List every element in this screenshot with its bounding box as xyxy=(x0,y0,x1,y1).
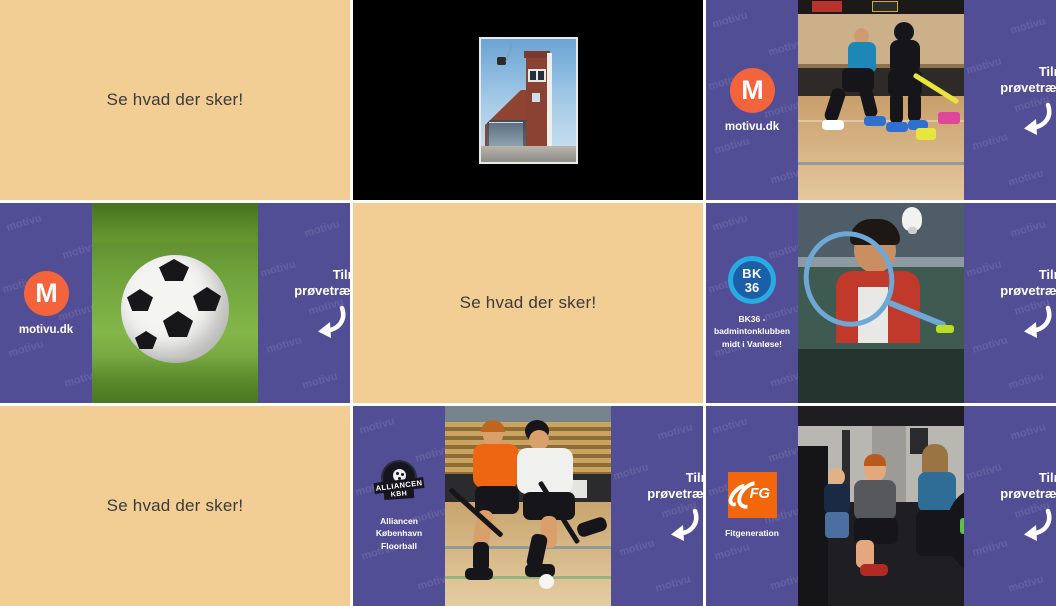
ball-panel xyxy=(127,289,153,311)
gym-ceiling xyxy=(798,406,964,426)
church-photo xyxy=(479,37,578,164)
cta-line-2: prøvetræning xyxy=(294,283,350,299)
man-tshirt xyxy=(854,480,896,520)
rowing-machine xyxy=(798,446,828,606)
player-head xyxy=(529,430,549,450)
ad-card-grid: Se hvad der sker! motivu motivu motivu m… xyxy=(0,0,1056,606)
player-leg xyxy=(890,92,903,124)
cta-line-2: prøvetræning xyxy=(647,486,703,502)
player-shoe xyxy=(822,120,844,130)
cta-panel[interactable]: Tilmeld prøvetræning xyxy=(964,203,1056,403)
bk36-logo-text-bottom: 36 xyxy=(745,281,759,294)
cta-line-1: Tilmeld xyxy=(647,470,703,486)
placeholder-card[interactable]: Se hvad der sker! xyxy=(0,0,350,200)
badminton-court-scene xyxy=(798,203,964,403)
sponsor-panel: M motivu.dk xyxy=(0,203,92,403)
card-photo xyxy=(798,203,964,403)
grass-background xyxy=(92,203,258,243)
placeholder-text: Se hvad der sker! xyxy=(107,90,244,110)
wall-sign-dark xyxy=(872,1,898,12)
court-floor xyxy=(798,349,964,403)
club-name-line-3: midt i Vanløse! xyxy=(714,338,790,350)
man-hair xyxy=(864,454,886,466)
player-jersey xyxy=(890,40,920,74)
alliancen-logo-text-bottom: KBH xyxy=(384,489,415,500)
player-shoe xyxy=(465,568,493,580)
ground xyxy=(481,146,576,162)
cta-panel[interactable]: Tilmeld prøvetræning xyxy=(964,0,1056,200)
child-jeans xyxy=(825,512,849,538)
player-head xyxy=(894,22,914,42)
club-name-line-2: badmintonklubben xyxy=(714,325,790,337)
curved-arrow-down-left-icon xyxy=(306,305,348,339)
club-name: BK36 - badmintonklubben midt i Vanløse! xyxy=(714,313,790,350)
sponsor-panel: BK 36 BK36 - badmintonklubben midt i Van… xyxy=(706,203,798,403)
cta-line-1: Tilmeld xyxy=(1000,470,1056,486)
motivu-logo-letter: M xyxy=(35,280,57,307)
ball-panel xyxy=(159,259,189,281)
cta-label: Tilmeld prøvetræning xyxy=(647,470,703,503)
cta-panel[interactable]: Tilmeld prøvetræning xyxy=(964,406,1056,606)
placeholder-card[interactable]: Se hvad der sker! xyxy=(0,406,350,606)
club-name-line-3: Floorball xyxy=(376,540,422,552)
club-name-line-1: BK36 - xyxy=(714,313,790,325)
man-shoe xyxy=(860,564,888,576)
cta-line-2: prøvetræning xyxy=(1000,486,1056,502)
promo-card-fitgeneration[interactable]: motivu motivu motivu motivu motivu motiv… xyxy=(706,406,1056,606)
promo-card-bk36[interactable]: motivu motivu motivu motivu motivu motiv… xyxy=(706,203,1056,403)
club-name: Alliancen København Floorball xyxy=(376,515,422,552)
cta-line-1: Tilmeld xyxy=(294,267,350,283)
club-name: Fitgeneration xyxy=(725,527,779,539)
floorball-ball xyxy=(539,574,554,589)
floorball-hall-scene xyxy=(798,0,964,200)
promo-card-alliancen[interactable]: motivu motivu motivu motivu motivu motiv… xyxy=(353,406,703,606)
bk36-logo-inner: BK 36 xyxy=(733,261,771,299)
stick-blade-pink xyxy=(938,112,960,124)
cta-label: Tilmeld prøvetræning xyxy=(1000,470,1056,503)
bk36-logo: BK 36 xyxy=(728,256,776,304)
promo-card-motivu-floorball[interactable]: motivu motivu motivu motivu motivu motiv… xyxy=(706,0,1056,200)
cta-panel[interactable]: Tilmeld prøvetræning xyxy=(611,406,703,606)
sponsor-name: motivu.dk xyxy=(19,324,73,336)
photo-card-church[interactable] xyxy=(353,0,703,200)
club-name-line-2: København xyxy=(376,527,422,539)
fg-logo-text: FG xyxy=(750,485,770,502)
cta-label: Tilmeld prøvetræning xyxy=(1000,267,1056,300)
alliancen-logo: ALLIANCEN KBH xyxy=(374,460,424,506)
card-photo xyxy=(92,203,258,403)
child-shirt xyxy=(824,484,850,514)
curved-arrow-down-left-icon xyxy=(1012,508,1054,542)
glass-entrance xyxy=(489,122,523,147)
placeholder-text: Se hvad der sker! xyxy=(107,496,244,516)
sponsor-name: motivu.dk xyxy=(725,121,779,133)
racket-grip xyxy=(936,325,954,333)
ball-panel xyxy=(135,331,157,349)
tower-window xyxy=(532,93,540,102)
card-photo xyxy=(798,406,964,606)
player-shoe xyxy=(864,116,886,126)
cta-line-2: prøvetræning xyxy=(1000,283,1056,299)
court-line-blue xyxy=(798,162,964,165)
promo-card-motivu-soccer[interactable]: motivu motivu motivu motivu motivu motiv… xyxy=(0,203,350,403)
curved-arrow-down-left-icon xyxy=(1012,305,1054,339)
cta-line-2: prøvetræning xyxy=(1000,80,1056,96)
sponsor-panel: M motivu.dk xyxy=(706,0,798,200)
player-leg xyxy=(908,92,921,122)
tower-stripe xyxy=(547,53,552,148)
cta-label: Tilmeld prøvetræning xyxy=(294,267,350,300)
grass-field-scene xyxy=(92,203,258,403)
street-lamp xyxy=(497,57,506,65)
ball-panel xyxy=(193,287,221,311)
placeholder-text: Se hvad der sker! xyxy=(460,293,597,313)
motivu-logo: M xyxy=(730,68,775,113)
curved-arrow-down-left-icon xyxy=(659,508,701,542)
ball-panel xyxy=(163,311,193,337)
card-photo xyxy=(798,0,964,200)
hall-ceiling xyxy=(445,406,611,422)
curved-arrow-down-left-icon xyxy=(1012,102,1054,136)
cta-line-1: Tilmeld xyxy=(1000,267,1056,283)
grass-foreground xyxy=(92,357,258,403)
motivu-logo-letter: M xyxy=(741,77,763,104)
player-jersey-orange xyxy=(473,444,519,488)
stick-blade xyxy=(916,128,936,140)
court-line-blue xyxy=(445,546,611,549)
floorball-match-scene xyxy=(445,406,611,606)
fitgeneration-logo: FG xyxy=(728,472,777,518)
cta-line-1: Tilmeld xyxy=(1000,64,1056,80)
club-name-line-1: Alliancen xyxy=(376,515,422,527)
player-shoe xyxy=(886,122,908,132)
placeholder-card[interactable]: Se hvad der sker! xyxy=(353,203,703,403)
card-photo xyxy=(445,406,611,606)
cta-panel[interactable]: Tilmeld prøvetræning xyxy=(258,203,350,403)
shuttlecock-cork xyxy=(908,227,917,234)
bk36-logo-text-top: BK xyxy=(742,267,762,280)
tower-bells xyxy=(528,69,546,82)
wall-sign-red xyxy=(812,1,842,12)
soccer-ball xyxy=(121,255,229,363)
hall-wall xyxy=(798,14,964,66)
sponsor-panel: ALLIANCEN KBH Alliancen København Floorb… xyxy=(353,406,445,606)
sponsor-panel: FG Fitgeneration xyxy=(706,406,798,606)
motivu-logo: M xyxy=(24,271,69,316)
gym-scene xyxy=(798,406,964,606)
cta-label: Tilmeld prøvetræning xyxy=(1000,64,1056,97)
